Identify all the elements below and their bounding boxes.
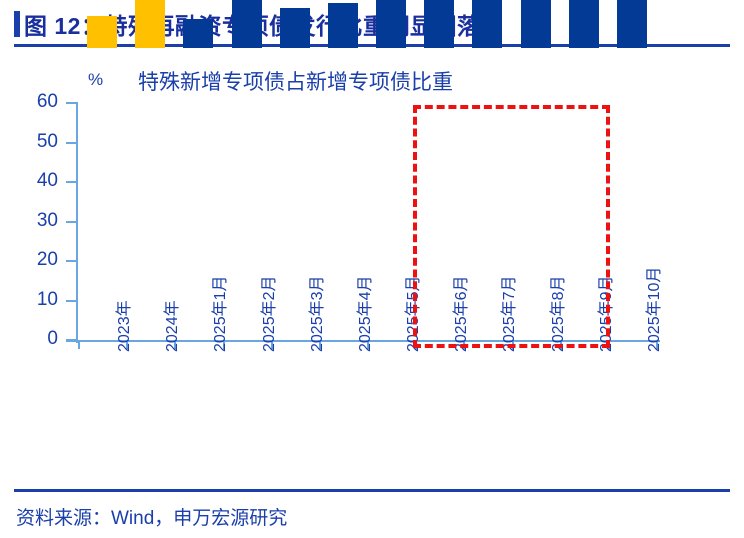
title-accent-bar [14, 11, 20, 37]
bar [87, 16, 117, 48]
x-axis-tick [78, 340, 80, 349]
x-axis-tick-label: 2025年3月 [303, 276, 327, 353]
x-axis-tick-label: 2025年8月 [544, 276, 568, 353]
bar [328, 3, 358, 48]
bar [280, 8, 310, 48]
x-axis-tick-label: 2025年7月 [495, 276, 519, 353]
bar [472, 0, 502, 48]
x-axis-tick-label: 2023年 [110, 300, 134, 352]
source-note: 资料来源：Wind，申万宏源研究 [16, 503, 287, 530]
bar [424, 0, 454, 48]
x-axis-tick-label: 2025年4月 [351, 276, 375, 353]
bar [521, 0, 551, 48]
chart-container: % 特殊新增专项债占新增专项债比重 0102030405060 2023年202… [0, 48, 744, 485]
bar [232, 0, 262, 48]
x-axis-tick-label: 2024年 [158, 300, 182, 352]
footer-divider [14, 489, 730, 492]
bar [617, 0, 647, 48]
bar [569, 0, 599, 48]
x-axis-tick-label: 2025年9月 [592, 276, 616, 353]
x-axis-tick-label: 2025年2月 [255, 276, 279, 353]
bar [135, 0, 165, 48]
x-axis-tick-label: 2025年1月 [206, 276, 230, 353]
x-axis-tick-label: 2025年6月 [447, 276, 471, 353]
x-axis-tick-label: 2025年10月 [640, 267, 664, 352]
bar [376, 0, 406, 48]
x-axis-tick-label: 2025年5月 [399, 276, 423, 353]
bar [183, 19, 213, 48]
